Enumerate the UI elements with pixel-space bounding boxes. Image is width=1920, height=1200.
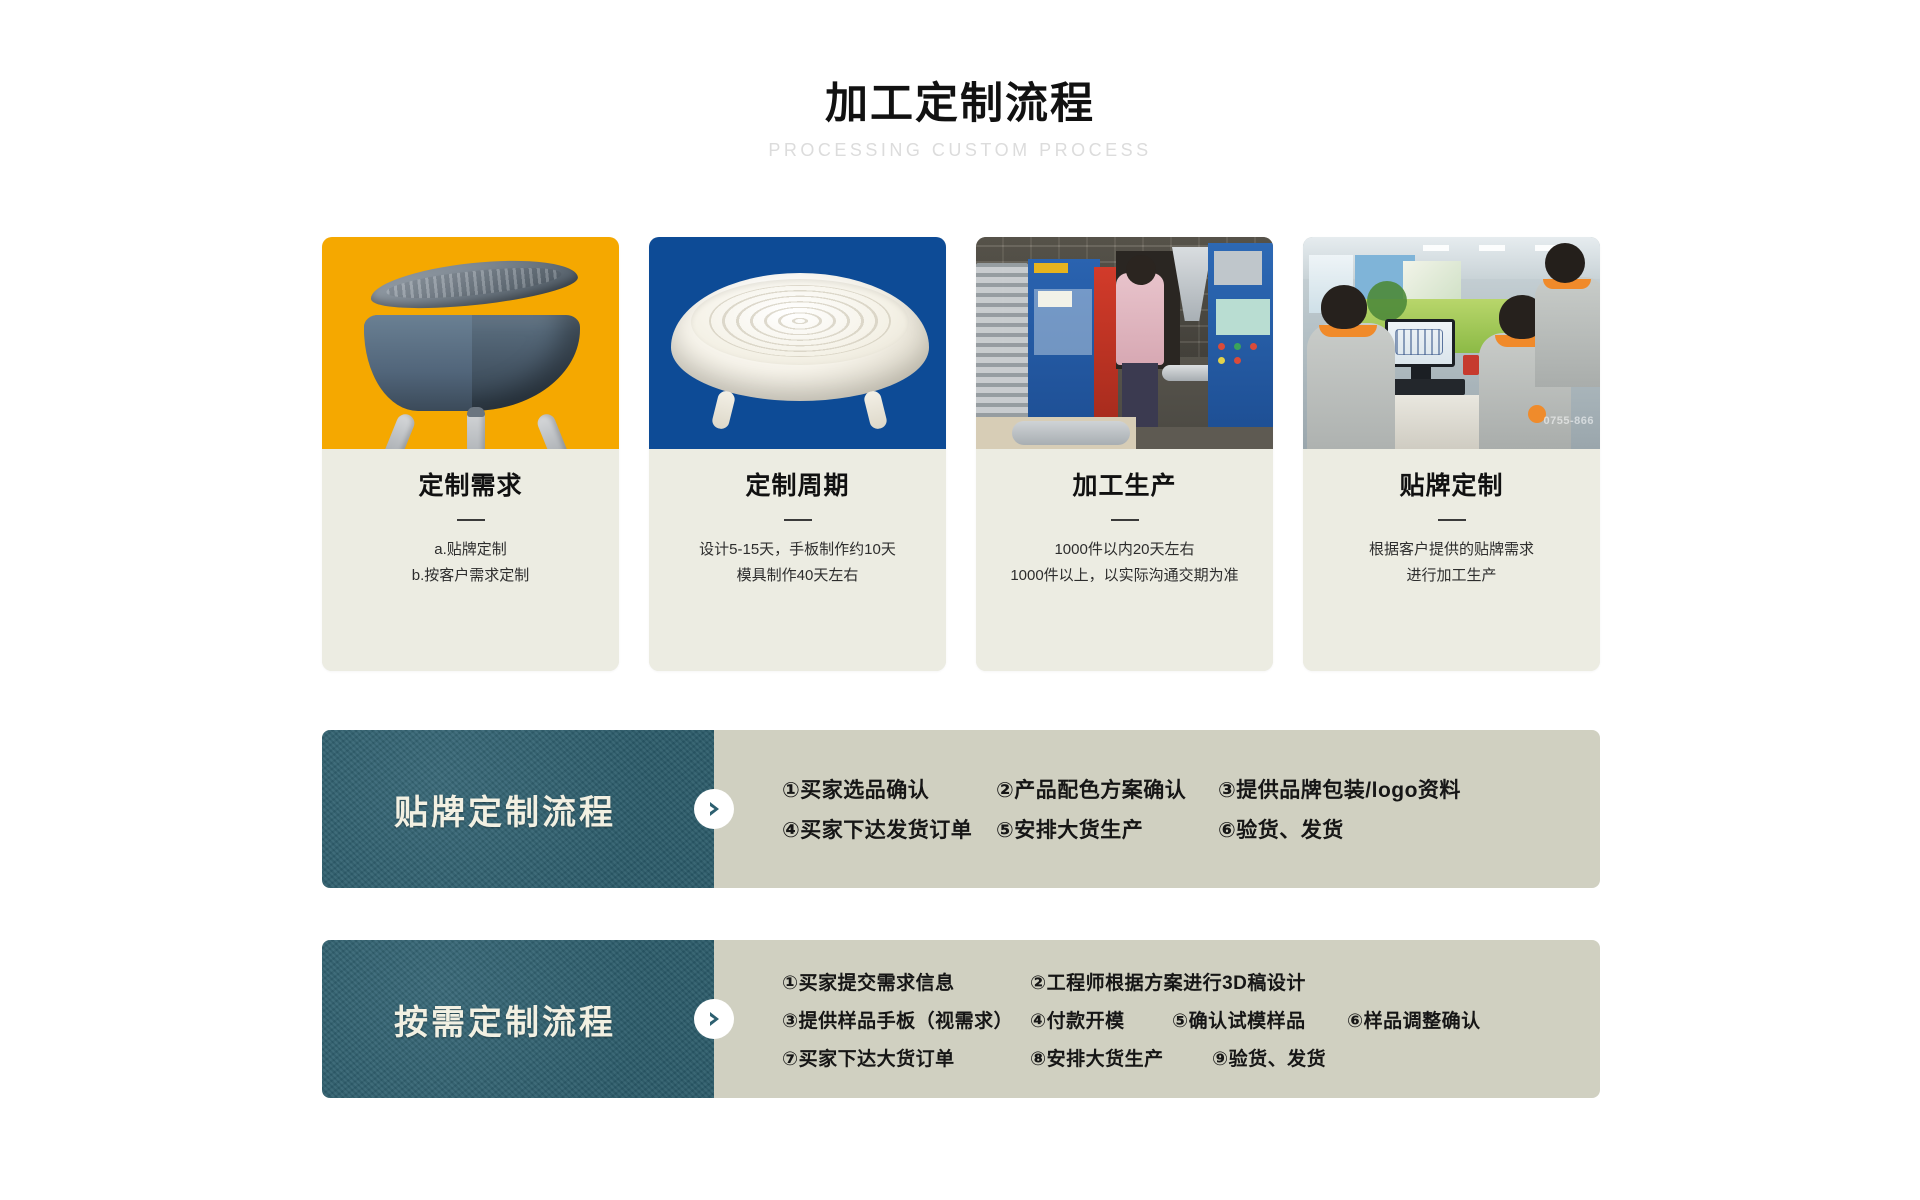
- card-3-body: 加工生产 1000件以内20天左右 1000件以上，以实际沟通交期为准: [976, 449, 1273, 671]
- process-step: ⑧安排大货生产: [1030, 1044, 1212, 1071]
- card-2-desc-line-2: 模具制作40天左右: [649, 563, 946, 589]
- ceiling-light-1: [1423, 245, 1449, 251]
- prototype-leg-left: [711, 390, 737, 431]
- card-4-desc-line-1: 根据客户提供的贴牌需求: [1303, 537, 1600, 563]
- card-4-divider: [1438, 519, 1466, 521]
- process-step: ③提供品牌包装/logo资料: [1218, 774, 1461, 804]
- monitor-stand: [1411, 367, 1431, 379]
- process-bar-ondemand: 按需定制流程 ①买家提交需求信息 ②工程师根据方案进行3D稿设计 ③提供样品手板…: [322, 940, 1600, 1098]
- warning-sign: [1038, 291, 1072, 307]
- process-bar-ondemand-panel[interactable]: 按需定制流程: [322, 940, 714, 1098]
- process-step: ④买家下达发货订单: [782, 814, 996, 844]
- person-3-head: [1545, 243, 1585, 283]
- card-2-divider: [784, 519, 812, 521]
- control-button-3: [1250, 343, 1257, 350]
- card-3-desc-line-2: 1000件以上，以实际沟通交期为准: [976, 563, 1273, 589]
- process-card-4[interactable]: 0755-866 贴牌定制 根据客户提供的贴牌需求 进行加工生产: [1303, 237, 1600, 671]
- prototype-rings-shape: [709, 285, 891, 357]
- product-leg-center: [467, 407, 485, 449]
- process-step-row: ①买家选品确认 ②产品配色方案确认 ③提供品牌包装/logo资料: [782, 769, 1600, 809]
- card-3-image: [976, 237, 1273, 449]
- card-2-image: [649, 237, 946, 449]
- card-1-divider: [457, 519, 485, 521]
- keyboard: [1391, 379, 1465, 395]
- page-title: 加工定制流程: [0, 78, 1920, 132]
- ceiling-light-2: [1479, 245, 1505, 251]
- card-4-desc-line-2: 进行加工生产: [1303, 563, 1600, 589]
- process-step-row: ①买家提交需求信息 ②工程师根据方案进行3D稿设计: [782, 962, 1600, 1000]
- watermark-text: 0755-866: [1544, 415, 1595, 427]
- control-screen: [1216, 299, 1270, 335]
- page-header: 加工定制流程 PROCESSING CUSTOM PROCESS: [0, 78, 1920, 161]
- process-card-3[interactable]: 加工生产 1000件以内20天左右 1000件以上，以实际沟通交期为准: [976, 237, 1273, 671]
- process-step: ②产品配色方案确认: [996, 774, 1218, 804]
- process-step: ①买家提交需求信息: [782, 968, 1030, 995]
- process-cards: 定制需求 a.贴牌定制 b.按客户需求定制 定制周期 设: [322, 237, 1600, 671]
- process-step-row: ⑦买家下达大货订单 ⑧安排大货生产 ⑨验货、发货: [782, 1038, 1600, 1076]
- product-lid-shape: [368, 252, 579, 316]
- card-3-title: 加工生产: [976, 471, 1273, 501]
- process-card-2[interactable]: 定制周期 设计5-15天，手板制作约10天 模具制作40天左右: [649, 237, 946, 671]
- process-step-row: ④买家下达发货订单 ⑤安排大货生产 ⑥验货、发货: [782, 809, 1600, 849]
- control-button-5: [1234, 357, 1241, 364]
- office-plant: [1367, 281, 1407, 321]
- process-step: ④付款开模: [1030, 1006, 1172, 1033]
- red-column: [1094, 267, 1118, 437]
- card-4-title: 贴牌定制: [1303, 471, 1600, 501]
- card-1-desc-line-2: b.按客户需求定制: [322, 563, 619, 589]
- machine-label: [1034, 263, 1068, 273]
- molded-part: [1012, 421, 1130, 445]
- chevron-right-icon[interactable]: [694, 789, 734, 829]
- card-1-body: 定制需求 a.贴牌定制 b.按客户需求定制: [322, 449, 619, 671]
- card-2-title: 定制周期: [649, 471, 946, 501]
- card-2-body: 定制周期 设计5-15天，手板制作约10天 模具制作40天左右: [649, 449, 946, 671]
- card-1-desc-line-1: a.贴牌定制: [322, 537, 619, 563]
- card-4-image: 0755-866: [1303, 237, 1600, 449]
- factory-scene: [976, 237, 1273, 449]
- process-step-row: ③提供样品手板（视需求） ④付款开模 ⑤确认试模样品 ⑥样品调整确认: [782, 1000, 1600, 1038]
- process-bar-oem-steps: ①买家选品确认 ②产品配色方案确认 ③提供品牌包装/logo资料 ④买家下达发货…: [714, 730, 1600, 888]
- process-step: ③提供样品手板（视需求）: [782, 1006, 1030, 1033]
- process-bar-oem: 贴牌定制流程 ①买家选品确认 ②产品配色方案确认 ③提供品牌包装/logo资料 …: [322, 730, 1600, 888]
- product-leg-right: [535, 412, 571, 449]
- process-step: ⑤安排大货生产: [996, 814, 1218, 844]
- page-root: 加工定制流程 PROCESSING CUSTOM PROCESS 定制需求 a.…: [0, 0, 1920, 1200]
- process-bar-ondemand-steps: ①买家提交需求信息 ②工程师根据方案进行3D稿设计 ③提供样品手板（视需求） ④…: [714, 940, 1600, 1098]
- control-button-2: [1234, 343, 1241, 350]
- process-step: ⑥样品调整确认: [1347, 1006, 1481, 1033]
- product-leg-left: [381, 412, 417, 449]
- process-step: ②工程师根据方案进行3D稿设计: [1030, 968, 1306, 995]
- card-3-divider: [1111, 519, 1139, 521]
- card-4-body: 贴牌定制 根据客户提供的贴牌需求 进行加工生产: [1303, 449, 1600, 671]
- control-button-1: [1218, 343, 1225, 350]
- process-step: ⑦买家下达大货订单: [782, 1044, 1030, 1071]
- process-step: ⑤确认试模样品: [1172, 1006, 1347, 1033]
- chevron-right-icon[interactable]: [694, 999, 734, 1039]
- cad-drawing-icon: [1395, 329, 1443, 355]
- worker-shirt: [1116, 273, 1164, 365]
- person-1-head: [1321, 285, 1367, 329]
- control-panel-top: [1214, 251, 1262, 285]
- process-bar-oem-panel[interactable]: 贴牌定制流程: [322, 730, 714, 888]
- product-bowl-shape: [364, 315, 580, 411]
- prototype-leg-right: [863, 390, 889, 431]
- process-step: ⑥验货、发货: [1218, 814, 1344, 844]
- stacked-parts: [976, 263, 1028, 433]
- card-1-title: 定制需求: [322, 471, 619, 501]
- process-bar-ondemand-label: 按需定制流程: [394, 995, 642, 1044]
- page-subtitle: PROCESSING CUSTOM PROCESS: [0, 140, 1920, 161]
- person-1-body: [1307, 323, 1395, 449]
- process-step: ①买家选品确认: [782, 774, 996, 804]
- card-2-desc-line-1: 设计5-15天，手板制作约10天: [649, 537, 946, 563]
- worker-head: [1126, 255, 1156, 285]
- pen-cup: [1463, 355, 1479, 375]
- card-1-image: [322, 237, 619, 449]
- card-3-desc-line-1: 1000件以内20天左右: [976, 537, 1273, 563]
- person-3-body: [1535, 277, 1600, 387]
- process-bar-oem-label: 贴牌定制流程: [394, 785, 642, 834]
- process-card-1[interactable]: 定制需求 a.贴牌定制 b.按客户需求定制: [322, 237, 619, 671]
- control-button-4: [1218, 357, 1225, 364]
- process-step: ⑨验货、发货: [1212, 1044, 1326, 1071]
